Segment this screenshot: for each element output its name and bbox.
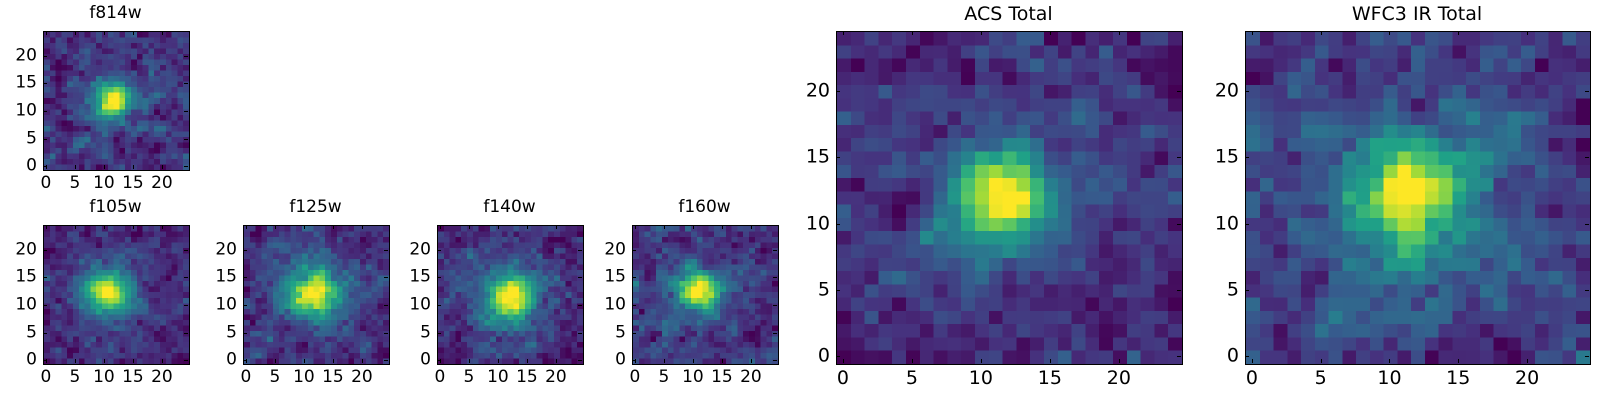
xtick-label-acs-total-1: 5 [906, 369, 918, 388]
heatmap-image-f105w [44, 226, 189, 364]
ytick-mark-right-wfc3-ir-total-0 [1585, 356, 1589, 357]
xtick-label-f105w-1: 5 [69, 369, 80, 386]
xtick-mark-wfc3-ir-total-2 [1389, 359, 1390, 363]
ytick-mark-f140w-3 [437, 277, 441, 278]
xtick-mark-top-f125w-2 [304, 225, 305, 229]
ytick-label-acs-total-1: 5 [792, 280, 830, 299]
xtick-mark-top-acs-total-2 [981, 31, 982, 35]
ytick-mark-acs-total-2 [836, 224, 840, 225]
xtick-mark-top-wfc3-ir-total-2 [1389, 31, 1390, 35]
ytick-mark-right-wfc3-ir-total-4 [1585, 91, 1589, 92]
xtick-mark-top-f140w-0 [440, 225, 441, 229]
xtick-label-f140w-1: 5 [463, 369, 474, 386]
ytick-mark-right-f814w-1 [184, 139, 188, 140]
xtick-label-f814w-2: 10 [93, 175, 115, 192]
xtick-mark-f105w-3 [133, 359, 134, 363]
xtick-label-acs-total-4: 20 [1107, 369, 1131, 388]
xtick-mark-top-f125w-1 [275, 225, 276, 229]
ytick-mark-right-f814w-0 [184, 166, 188, 167]
ytick-label-wfc3-ir-total-0: 0 [1201, 347, 1239, 366]
ytick-label-f160w-4: 20 [588, 241, 626, 258]
heatmap-image-f160w [633, 226, 778, 364]
ytick-label-f160w-3: 15 [588, 269, 626, 286]
ytick-mark-right-acs-total-4 [1177, 91, 1181, 92]
xtick-mark-top-f125w-3 [333, 225, 334, 229]
ytick-label-f105w-3: 15 [0, 269, 37, 286]
ytick-label-f814w-4: 20 [0, 47, 37, 64]
xtick-mark-f160w-2 [693, 359, 694, 363]
xtick-label-f814w-4: 20 [151, 175, 173, 192]
xtick-mark-f140w-2 [498, 359, 499, 363]
xtick-label-f105w-0: 0 [40, 369, 51, 386]
xtick-mark-f814w-2 [104, 165, 105, 169]
heatmap-axes-f125w [243, 225, 390, 365]
ytick-mark-right-f814w-4 [184, 56, 188, 57]
xtick-mark-acs-total-3 [1050, 359, 1051, 363]
ytick-mark-f105w-2 [43, 305, 47, 306]
heatmap-axes-wfc3-ir-total [1245, 31, 1591, 365]
xtick-mark-f814w-3 [133, 165, 134, 169]
panel-wfc3-ir-total: WFC3 IR Total0510152005101520 [1201, 5, 1591, 393]
xtick-mark-top-f125w-4 [362, 225, 363, 229]
ytick-mark-wfc3-ir-total-1 [1245, 290, 1249, 291]
ytick-label-f814w-3: 15 [0, 75, 37, 92]
xtick-mark-f140w-0 [440, 359, 441, 363]
ytick-mark-right-f105w-0 [184, 360, 188, 361]
xtick-mark-top-f140w-3 [527, 225, 528, 229]
ytick-label-f125w-2: 10 [199, 297, 237, 314]
ytick-label-acs-total-3: 15 [792, 148, 830, 167]
ytick-mark-right-wfc3-ir-total-2 [1585, 224, 1589, 225]
xtick-mark-top-f814w-2 [104, 31, 105, 35]
ytick-mark-f814w-1 [43, 139, 47, 140]
ytick-label-f814w-0: 0 [0, 158, 37, 175]
xtick-label-f125w-2: 10 [293, 369, 315, 386]
xtick-mark-f140w-3 [527, 359, 528, 363]
ytick-mark-right-f125w-2 [384, 305, 388, 306]
ytick-mark-right-f105w-2 [184, 305, 188, 306]
heatmap-image-f125w [244, 226, 389, 364]
xtick-mark-f814w-4 [162, 165, 163, 169]
ytick-mark-f814w-4 [43, 56, 47, 57]
ytick-mark-acs-total-4 [836, 91, 840, 92]
xtick-mark-f160w-3 [722, 359, 723, 363]
xtick-mark-f105w-2 [104, 359, 105, 363]
heatmap-image-acs-total [837, 32, 1182, 364]
xtick-mark-top-f160w-2 [693, 225, 694, 229]
xtick-mark-top-f160w-1 [664, 225, 665, 229]
ytick-label-f125w-1: 5 [199, 324, 237, 341]
xtick-label-f105w-3: 15 [122, 369, 144, 386]
panel-title-acs-total: ACS Total [836, 5, 1181, 24]
ytick-label-f125w-0: 0 [199, 352, 237, 369]
panel-f140w: f140w0510152005101520 [393, 199, 584, 393]
ytick-label-f140w-3: 15 [393, 269, 431, 286]
ytick-mark-f125w-3 [243, 277, 247, 278]
ytick-mark-f105w-3 [43, 277, 47, 278]
ytick-mark-acs-total-0 [836, 356, 840, 357]
heatmap-axes-f140w [437, 225, 584, 365]
xtick-mark-top-acs-total-4 [1119, 31, 1120, 35]
panel-f814w: f814w0510152005101520 [0, 5, 190, 199]
panel-title-f814w: f814w [43, 5, 188, 22]
ytick-mark-right-f125w-1 [384, 333, 388, 334]
xtick-label-f160w-1: 5 [658, 369, 669, 386]
xtick-mark-top-wfc3-ir-total-3 [1458, 31, 1459, 35]
heatmap-axes-f160w [632, 225, 779, 365]
panel-title-f140w: f140w [437, 199, 582, 216]
ytick-mark-wfc3-ir-total-0 [1245, 356, 1249, 357]
heatmap-image-wfc3-ir-total [1246, 32, 1590, 364]
ytick-mark-right-f140w-1 [578, 333, 582, 334]
xtick-mark-top-f140w-1 [469, 225, 470, 229]
heatmap-axes-acs-total [836, 31, 1183, 365]
xtick-mark-top-acs-total-3 [1050, 31, 1051, 35]
ytick-label-wfc3-ir-total-3: 15 [1201, 148, 1239, 167]
ytick-mark-right-f140w-0 [578, 360, 582, 361]
xtick-mark-f105w-0 [46, 359, 47, 363]
xtick-label-f814w-0: 0 [40, 175, 51, 192]
ytick-mark-f105w-1 [43, 333, 47, 334]
xtick-label-f160w-0: 0 [629, 369, 640, 386]
xtick-mark-f160w-1 [664, 359, 665, 363]
xtick-mark-top-acs-total-0 [843, 31, 844, 35]
ytick-label-f125w-4: 20 [199, 241, 237, 258]
ytick-label-f160w-2: 10 [588, 297, 626, 314]
ytick-mark-right-acs-total-2 [1177, 224, 1181, 225]
ytick-mark-f105w-4 [43, 250, 47, 251]
xtick-mark-f814w-1 [75, 165, 76, 169]
ytick-mark-right-f105w-4 [184, 250, 188, 251]
ytick-label-f125w-3: 15 [199, 269, 237, 286]
xtick-label-f814w-1: 5 [69, 175, 80, 192]
ytick-label-f814w-2: 10 [0, 103, 37, 120]
panel-f105w: f105w0510152005101520 [0, 199, 190, 393]
ytick-mark-wfc3-ir-total-4 [1245, 91, 1249, 92]
xtick-label-f814w-3: 15 [122, 175, 144, 192]
xtick-mark-top-f160w-4 [751, 225, 752, 229]
xtick-mark-f125w-4 [362, 359, 363, 363]
ytick-mark-f814w-2 [43, 111, 47, 112]
panel-f125w: f125w0510152005101520 [199, 199, 390, 393]
ytick-mark-f160w-4 [632, 250, 636, 251]
ytick-mark-f160w-2 [632, 305, 636, 306]
ytick-mark-right-acs-total-0 [1177, 356, 1181, 357]
ytick-label-f105w-0: 0 [0, 352, 37, 369]
xtick-mark-top-f814w-3 [133, 31, 134, 35]
ytick-mark-f160w-3 [632, 277, 636, 278]
xtick-mark-f140w-1 [469, 359, 470, 363]
panel-title-wfc3-ir-total: WFC3 IR Total [1245, 5, 1589, 24]
ytick-mark-f160w-1 [632, 333, 636, 334]
xtick-mark-top-f160w-3 [722, 225, 723, 229]
ytick-mark-f140w-1 [437, 333, 441, 334]
xtick-mark-f125w-0 [246, 359, 247, 363]
xtick-label-f125w-0: 0 [240, 369, 251, 386]
xtick-mark-f125w-1 [275, 359, 276, 363]
ytick-mark-right-f125w-4 [384, 250, 388, 251]
xtick-mark-wfc3-ir-total-0 [1252, 359, 1253, 363]
ytick-mark-right-f105w-3 [184, 277, 188, 278]
xtick-mark-f160w-0 [635, 359, 636, 363]
ytick-label-wfc3-ir-total-1: 5 [1201, 280, 1239, 299]
ytick-mark-right-f160w-3 [773, 277, 777, 278]
ytick-mark-right-f160w-4 [773, 250, 777, 251]
panel-f160w: f160w0510152005101520 [588, 199, 779, 393]
xtick-mark-top-wfc3-ir-total-1 [1321, 31, 1322, 35]
ytick-label-wfc3-ir-total-4: 20 [1201, 81, 1239, 100]
ytick-label-f160w-1: 5 [588, 324, 626, 341]
xtick-mark-wfc3-ir-total-1 [1321, 359, 1322, 363]
xtick-mark-top-f140w-2 [498, 225, 499, 229]
ytick-mark-f125w-1 [243, 333, 247, 334]
ytick-mark-right-acs-total-1 [1177, 290, 1181, 291]
xtick-label-f140w-4: 20 [545, 369, 567, 386]
xtick-mark-acs-total-0 [843, 359, 844, 363]
xtick-mark-top-wfc3-ir-total-4 [1527, 31, 1528, 35]
heatmap-axes-f105w [43, 225, 190, 365]
ytick-mark-right-f160w-0 [773, 360, 777, 361]
xtick-label-acs-total-0: 0 [837, 369, 849, 388]
xtick-label-wfc3-ir-total-2: 10 [1377, 369, 1401, 388]
ytick-mark-f814w-3 [43, 83, 47, 84]
ytick-label-f105w-2: 10 [0, 297, 37, 314]
heatmap-axes-f814w [43, 31, 190, 171]
panel-title-f105w: f105w [43, 199, 188, 216]
xtick-mark-top-f125w-0 [246, 225, 247, 229]
ytick-label-f140w-2: 10 [393, 297, 431, 314]
ytick-label-f140w-0: 0 [393, 352, 431, 369]
panel-title-f160w: f160w [632, 199, 777, 216]
xtick-mark-top-f105w-4 [162, 225, 163, 229]
xtick-label-wfc3-ir-total-1: 5 [1315, 369, 1327, 388]
xtick-mark-acs-total-2 [981, 359, 982, 363]
panel-acs-total: ACS Total0510152005101520 [792, 5, 1183, 393]
heatmap-image-f814w [44, 32, 189, 170]
ytick-label-acs-total-4: 20 [792, 81, 830, 100]
xtick-mark-top-f105w-2 [104, 225, 105, 229]
xtick-label-wfc3-ir-total-0: 0 [1246, 369, 1258, 388]
xtick-mark-f140w-4 [556, 359, 557, 363]
ytick-mark-f125w-4 [243, 250, 247, 251]
ytick-label-f105w-1: 5 [0, 324, 37, 341]
xtick-label-f160w-3: 15 [711, 369, 733, 386]
xtick-mark-acs-total-4 [1119, 359, 1120, 363]
xtick-label-f105w-2: 10 [93, 369, 115, 386]
ytick-mark-right-wfc3-ir-total-3 [1585, 157, 1589, 158]
ytick-label-f105w-4: 20 [0, 241, 37, 258]
xtick-label-wfc3-ir-total-4: 20 [1515, 369, 1539, 388]
ytick-mark-wfc3-ir-total-3 [1245, 157, 1249, 158]
xtick-label-f160w-2: 10 [682, 369, 704, 386]
xtick-mark-f125w-3 [333, 359, 334, 363]
xtick-mark-top-f814w-0 [46, 31, 47, 35]
xtick-label-wfc3-ir-total-3: 15 [1446, 369, 1470, 388]
xtick-label-acs-total-2: 10 [969, 369, 993, 388]
ytick-mark-acs-total-3 [836, 157, 840, 158]
xtick-label-acs-total-3: 15 [1038, 369, 1062, 388]
xtick-mark-top-f814w-1 [75, 31, 76, 35]
ytick-mark-right-f140w-4 [578, 250, 582, 251]
xtick-mark-f125w-2 [304, 359, 305, 363]
ytick-label-f140w-4: 20 [393, 241, 431, 258]
ytick-mark-f125w-2 [243, 305, 247, 306]
ytick-mark-right-f160w-2 [773, 305, 777, 306]
xtick-mark-acs-total-1 [912, 359, 913, 363]
ytick-mark-wfc3-ir-total-2 [1245, 224, 1249, 225]
ytick-mark-right-f814w-2 [184, 111, 188, 112]
ytick-label-f160w-0: 0 [588, 352, 626, 369]
ytick-label-f814w-1: 5 [0, 130, 37, 147]
ytick-label-acs-total-2: 10 [792, 214, 830, 233]
xtick-label-f140w-2: 10 [487, 369, 509, 386]
ytick-mark-right-f160w-1 [773, 333, 777, 334]
xtick-label-f140w-0: 0 [434, 369, 445, 386]
xtick-mark-f160w-4 [751, 359, 752, 363]
xtick-mark-wfc3-ir-total-3 [1458, 359, 1459, 363]
xtick-mark-f105w-4 [162, 359, 163, 363]
xtick-label-f125w-4: 20 [351, 369, 373, 386]
ytick-mark-right-f140w-3 [578, 277, 582, 278]
xtick-mark-top-f814w-4 [162, 31, 163, 35]
xtick-mark-f105w-1 [75, 359, 76, 363]
xtick-label-f105w-4: 20 [151, 369, 173, 386]
xtick-label-f125w-3: 15 [322, 369, 344, 386]
ytick-label-f140w-1: 5 [393, 324, 431, 341]
xtick-mark-f814w-0 [46, 165, 47, 169]
ytick-mark-right-f105w-1 [184, 333, 188, 334]
ytick-label-wfc3-ir-total-2: 10 [1201, 214, 1239, 233]
ytick-mark-right-acs-total-3 [1177, 157, 1181, 158]
ytick-mark-right-f814w-3 [184, 83, 188, 84]
xtick-mark-top-f105w-0 [46, 225, 47, 229]
xtick-label-f140w-3: 15 [516, 369, 538, 386]
panel-title-f125w: f125w [243, 199, 388, 216]
ytick-mark-f140w-2 [437, 305, 441, 306]
xtick-label-f160w-4: 20 [740, 369, 762, 386]
xtick-mark-top-wfc3-ir-total-0 [1252, 31, 1253, 35]
xtick-label-f125w-1: 5 [269, 369, 280, 386]
ytick-mark-right-wfc3-ir-total-1 [1585, 290, 1589, 291]
ytick-label-acs-total-0: 0 [792, 347, 830, 366]
xtick-mark-top-f140w-4 [556, 225, 557, 229]
heatmap-image-f140w [438, 226, 583, 364]
ytick-mark-right-f125w-3 [384, 277, 388, 278]
ytick-mark-f140w-4 [437, 250, 441, 251]
xtick-mark-top-f105w-1 [75, 225, 76, 229]
xtick-mark-top-acs-total-1 [912, 31, 913, 35]
xtick-mark-top-f160w-0 [635, 225, 636, 229]
ytick-mark-right-f125w-0 [384, 360, 388, 361]
xtick-mark-top-f105w-3 [133, 225, 134, 229]
xtick-mark-wfc3-ir-total-4 [1527, 359, 1528, 363]
ytick-mark-acs-total-1 [836, 290, 840, 291]
ytick-mark-right-f140w-2 [578, 305, 582, 306]
